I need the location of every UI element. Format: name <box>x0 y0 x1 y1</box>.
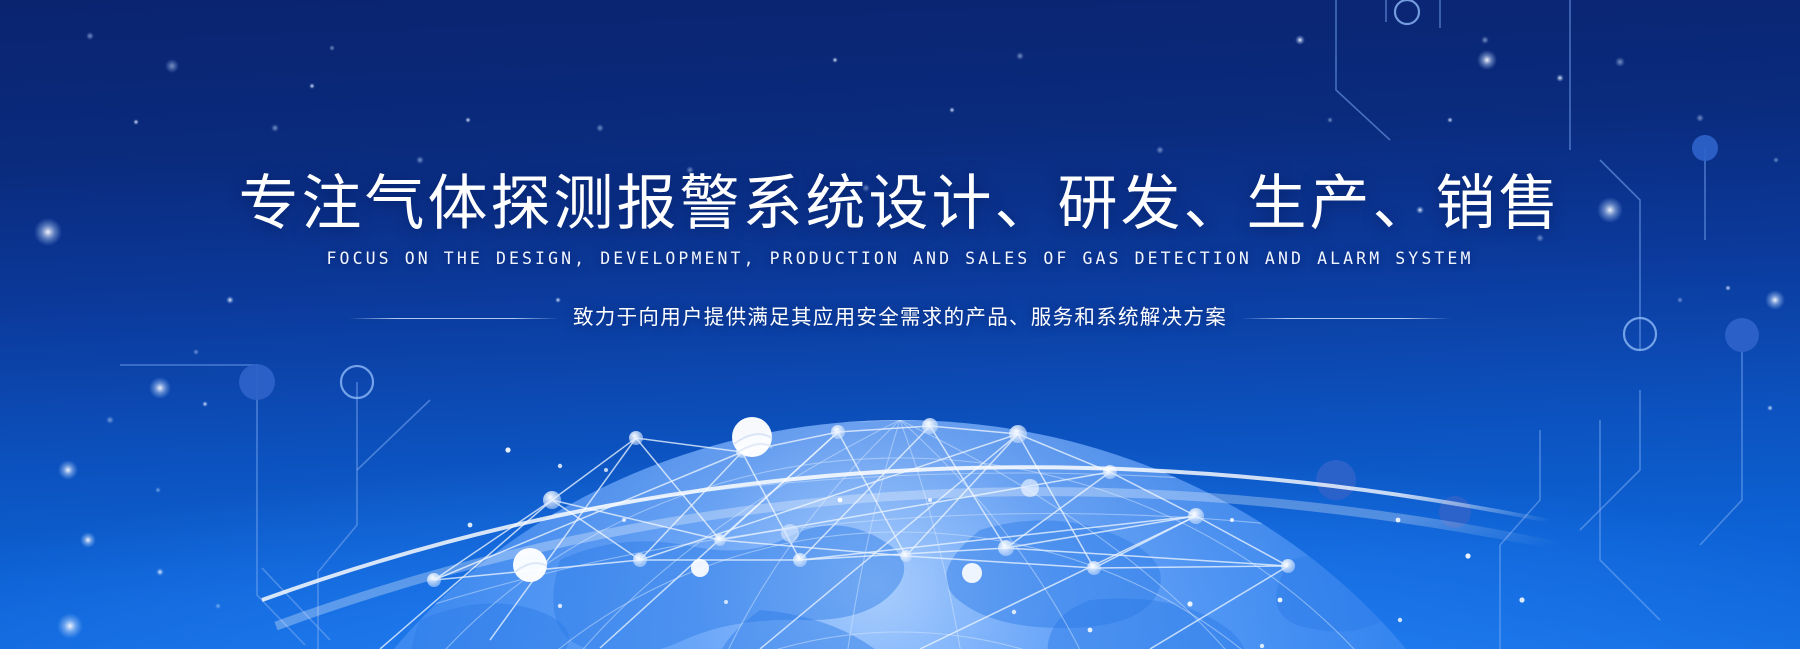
network-globe <box>0 0 1800 649</box>
hero-banner: 专注气体探测报警系统设计、研发、生产、销售 FOCUS ON THE DESIG… <box>0 0 1800 649</box>
